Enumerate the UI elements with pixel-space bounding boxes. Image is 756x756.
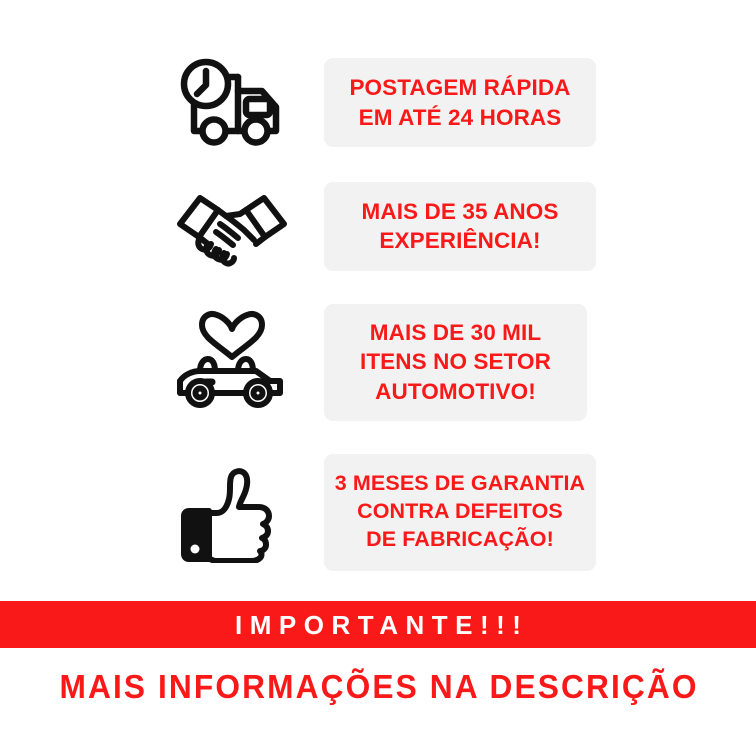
feature-row: MAIS DE 35 ANOS EXPERIÊNCIA! — [0, 165, 756, 287]
feature-row: 3 MESES DE GARANTIA CONTRA DEFEITOS DE F… — [0, 437, 756, 587]
description-callout: MAIS INFORMAÇÕES NA DESCRIÇÃO — [0, 660, 756, 712]
feature-text-pill: MAIS DE 30 MIL ITENS NO SETOR AUTOMOTIVO… — [324, 304, 587, 421]
feature-text-line: POSTAGEM RÁPIDA — [349, 73, 570, 102]
feature-text-pill: 3 MESES DE GARANTIA CONTRA DEFEITOS DE F… — [324, 454, 596, 571]
car-heart-icon — [168, 310, 296, 414]
feature-text-line: AUTOMOTIVO! — [375, 377, 536, 406]
description-label: MAIS INFORMAÇÕES NA DESCRIÇÃO — [57, 670, 698, 703]
feature-text-line: DE FABRICAÇÃO! — [366, 526, 554, 554]
feature-text-line: EXPERIÊNCIA! — [379, 226, 540, 255]
important-label: IMPORTANTE!!! — [228, 612, 529, 638]
feature-text-pill: POSTAGEM RÁPIDA EM ATÉ 24 HORAS — [324, 58, 596, 147]
feature-text-line: EM ATÉ 24 HORAS — [359, 103, 562, 132]
delivery-truck-clock-icon — [168, 51, 296, 155]
feature-text-line: MAIS DE 30 MIL — [370, 318, 541, 347]
feature-row: POSTAGEM RÁPIDA EM ATÉ 24 HORAS — [0, 40, 756, 165]
handshake-icon — [168, 174, 296, 278]
important-banner: IMPORTANTE!!! — [0, 601, 756, 648]
feature-text-line: CONTRA DEFEITOS — [357, 498, 563, 526]
feature-text-line: MAIS DE 35 ANOS — [362, 197, 559, 226]
feature-text-line: 3 MESES DE GARANTIA — [335, 470, 585, 498]
feature-list: POSTAGEM RÁPIDA EM ATÉ 24 HORAS — [0, 0, 756, 596]
feature-text-line: ITENS NO SETOR — [360, 347, 551, 376]
promotional-banner: POSTAGEM RÁPIDA EM ATÉ 24 HORAS — [0, 0, 756, 756]
feature-text-pill: MAIS DE 35 ANOS EXPERIÊNCIA! — [324, 182, 596, 271]
thumbs-up-icon — [168, 460, 296, 564]
feature-row: MAIS DE 30 MIL ITENS NO SETOR AUTOMOTIVO… — [0, 287, 756, 437]
